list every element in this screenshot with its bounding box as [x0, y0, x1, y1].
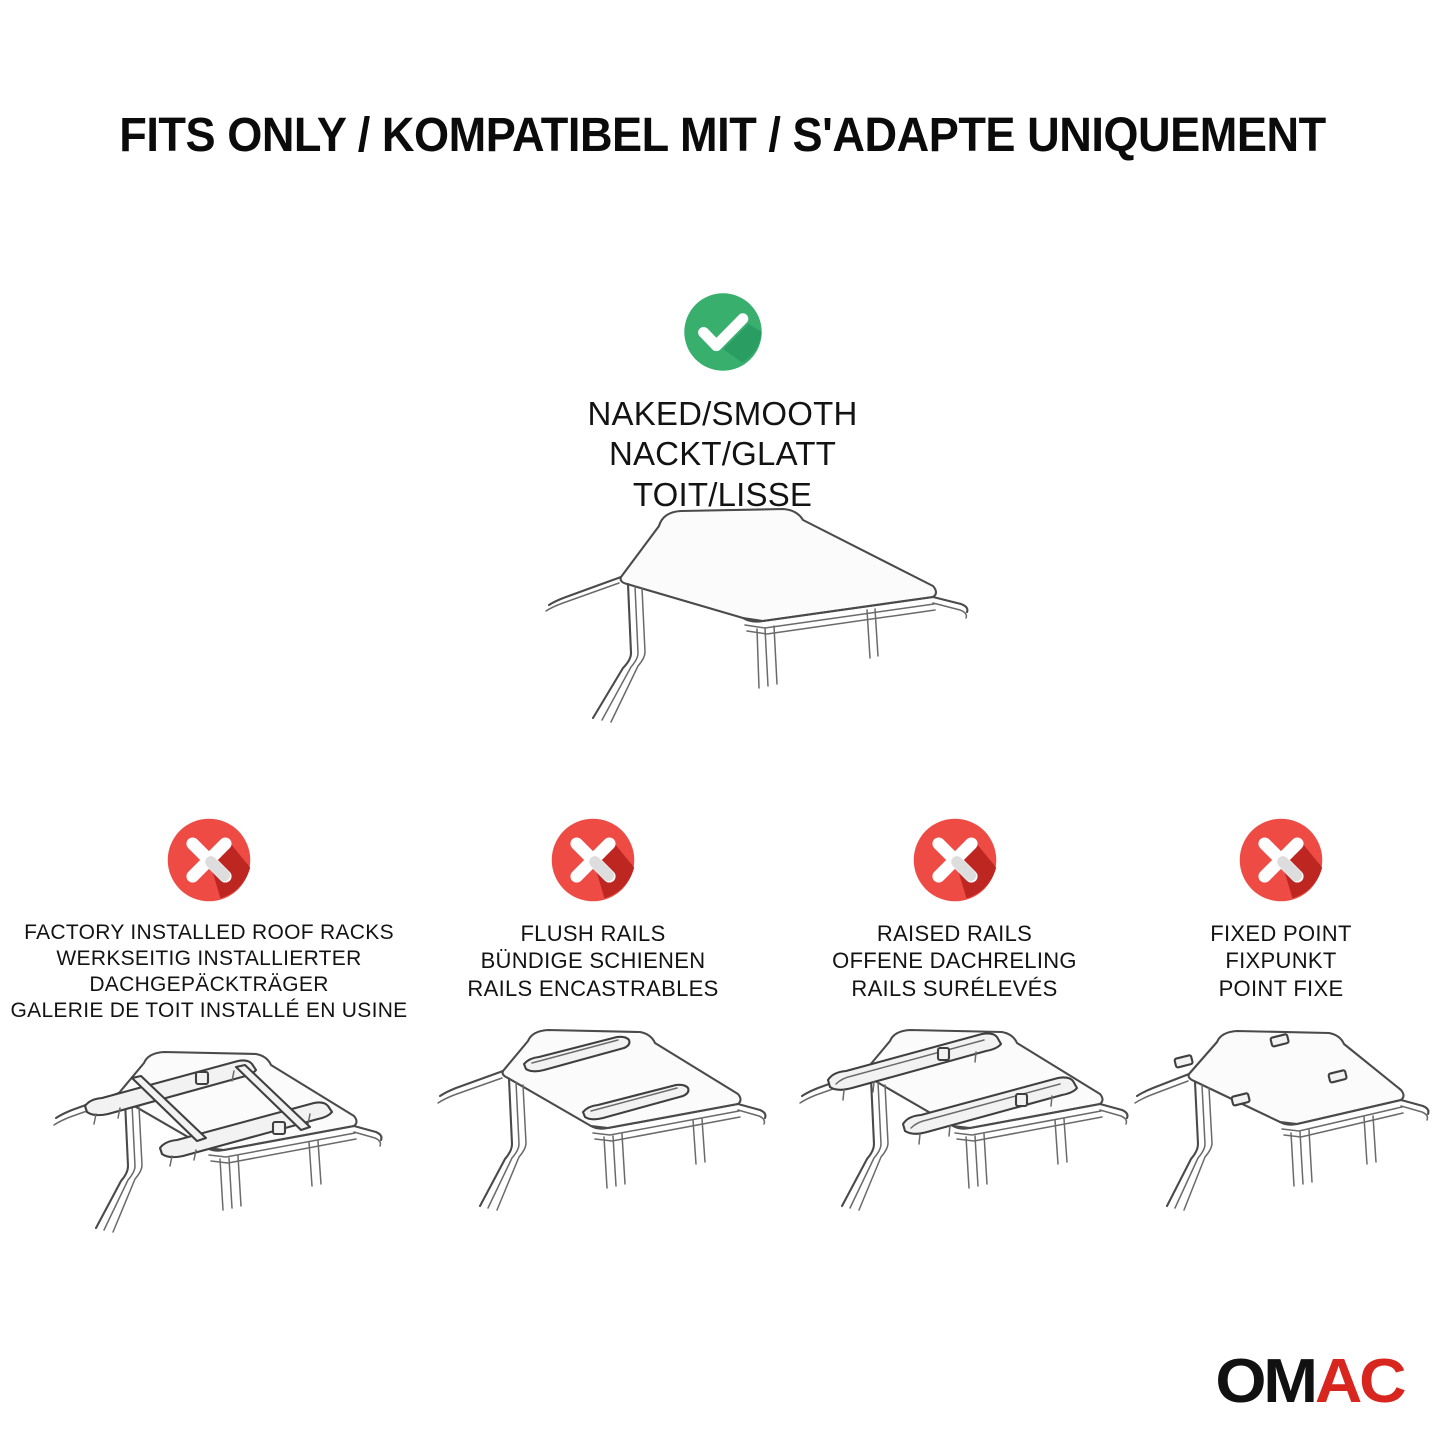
flush-rails-labels: FLUSH RAILS BÜNDIGE SCHIENEN RAILS ENCAS…: [467, 920, 718, 1002]
factory-racks-label-de-1: WERKSEITIG INSTALLIERTER: [11, 946, 408, 972]
infographic-page: FITS ONLY / KOMPATIBEL MIT / S'ADAPTE UN…: [0, 0, 1445, 1445]
check-circle-icon: [679, 288, 767, 376]
raised-rails-labels: RAISED RAILS OFFENE DACHRELING RAILS SUR…: [832, 920, 1077, 1002]
factory-racks-label-en: FACTORY INSTALLED ROOF RACKS: [11, 920, 408, 946]
fixed-point-label-en: FIXED POINT: [1210, 920, 1351, 947]
car-roof-flush-rails-illustration: [408, 1016, 778, 1231]
incompatible-column-flush-rails: FLUSH RAILS BÜNDIGE SCHIENEN RAILS ENCAS…: [408, 812, 778, 1231]
incompatible-sections: FACTORY INSTALLED ROOF RACKS WERKSEITIG …: [0, 812, 1445, 1253]
compatible-label-de: NACKT/GLATT: [493, 434, 953, 474]
factory-racks-labels: FACTORY INSTALLED ROOF RACKS WERKSEITIG …: [11, 920, 408, 1024]
omac-logo: OMAC: [1215, 1351, 1403, 1413]
flush-rails-label-fr: RAILS ENCASTRABLES: [467, 975, 718, 1002]
flush-rails-label-en: FLUSH RAILS: [467, 920, 718, 947]
cross-circle-icon: [545, 812, 641, 908]
incompatible-column-raised-rails: RAISED RAILS OFFENE DACHRELING RAILS SUR…: [782, 812, 1127, 1231]
cross-circle-icon: [161, 812, 257, 908]
fixed-point-label-de: FIXPUNKT: [1210, 947, 1351, 974]
compatible-section: NAKED/SMOOTH NACKT/GLATT TOIT/LISSE: [493, 288, 953, 515]
logo-text-dark: OM: [1215, 1351, 1315, 1413]
incompatible-column-fixed-point: FIXED POINT FIXPUNKT POINT FIXE: [1131, 812, 1431, 1231]
raised-rails-label-de: OFFENE DACHRELING: [832, 947, 1077, 974]
incompatible-column-factory-racks: FACTORY INSTALLED ROOF RACKS WERKSEITIG …: [14, 812, 404, 1253]
fixed-point-labels: FIXED POINT FIXPUNKT POINT FIXE: [1210, 920, 1351, 1002]
compatible-labels: NAKED/SMOOTH NACKT/GLATT TOIT/LISSE: [493, 394, 953, 515]
logo-text-red: AC: [1314, 1351, 1403, 1413]
factory-racks-label-de-2: DACHGEPÄCKTRÄGER: [11, 972, 408, 998]
compatible-label-en: NAKED/SMOOTH: [493, 394, 953, 434]
fixed-point-label-fr: POINT FIXE: [1210, 975, 1351, 1002]
page-title: FITS ONLY / KOMPATIBEL MIT / S'ADAPTE UN…: [43, 108, 1401, 163]
car-roof-raised-rails-illustration: [770, 1016, 1140, 1231]
factory-racks-label-fr: GALERIE DE TOIT INSTALLÉ EN USINE: [11, 998, 408, 1024]
cross-circle-icon: [1233, 812, 1329, 908]
raised-rails-label-en: RAISED RAILS: [832, 920, 1077, 947]
car-roof-factory-racks-illustration: [24, 1038, 394, 1253]
car-roof-fixed-point-illustration: [1131, 1016, 1431, 1231]
car-roof-naked-smooth-illustration: [463, 498, 983, 743]
raised-rails-label-fr: RAILS SURÉLEVÉS: [832, 975, 1077, 1002]
flush-rails-label-de: BÜNDIGE SCHIENEN: [467, 947, 718, 974]
cross-circle-icon: [907, 812, 1003, 908]
